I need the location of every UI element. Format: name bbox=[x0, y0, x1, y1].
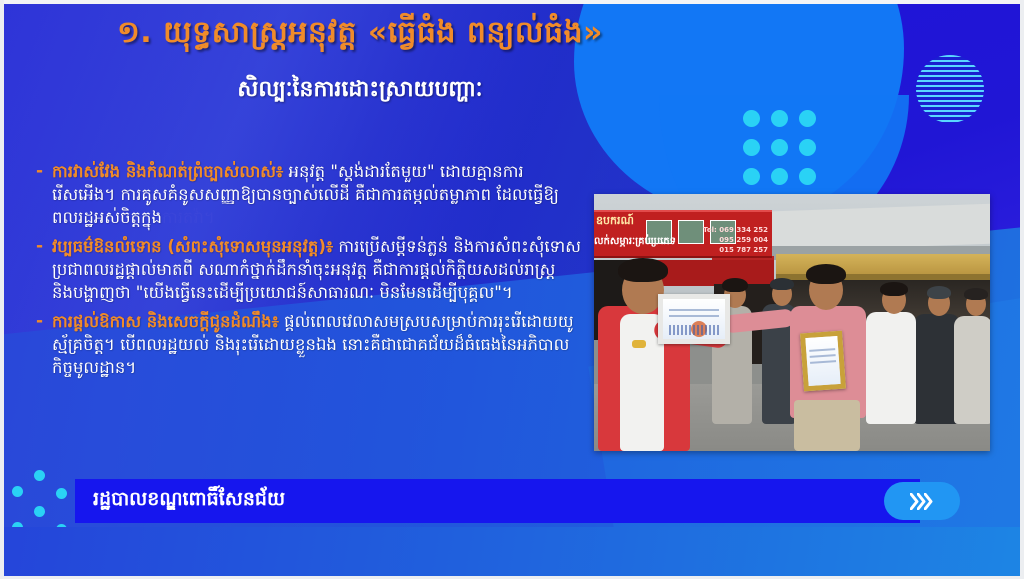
footer-label: រដ្ឋបាលខណ្ឌពោធិ៍សែនជ័យ bbox=[93, 487, 285, 515]
bullet-lead: ការវាស់វែង និងកំណត់ព្រំច្បាស់លាស់៖ bbox=[52, 162, 283, 181]
bottom-strip bbox=[0, 527, 1024, 579]
dot bbox=[743, 139, 760, 156]
photo-sign-phone: 095 259 004 bbox=[719, 236, 768, 244]
page-title: ១. យុទ្ធសាស្ត្រអនុវត្ត «ធ្វើធំង ពន្យល់ធំ… bbox=[0, 14, 720, 52]
dot bbox=[12, 486, 23, 497]
bullet-marker: - bbox=[36, 310, 52, 333]
photo-sign-secondary bbox=[654, 260, 774, 286]
photo-person-hair bbox=[964, 288, 988, 300]
footer-bar: រដ្ឋបាលខណ្ឌពោធិ៍សែនជ័យ bbox=[75, 479, 920, 523]
bullet-lead: ការផ្តល់ឱកាស និងសេចក្តីជូនដំណឹង៖ bbox=[52, 312, 279, 331]
photo-certificate-pattern bbox=[669, 325, 719, 335]
photo-sign-main-text: ឧបករណ៍ bbox=[596, 214, 634, 230]
photo-person-cap bbox=[770, 278, 794, 290]
frame-edge-right bbox=[1020, 0, 1024, 579]
bullet-body: ការវាស់វែង និងកំណត់ព្រំច្បាស់លាស់៖ អនុវត… bbox=[52, 160, 581, 229]
bullet-marker: - bbox=[36, 235, 52, 258]
dot bbox=[743, 168, 760, 185]
photo-sign-thumb bbox=[678, 220, 704, 244]
photo-person bbox=[866, 312, 916, 424]
photo-person-trousers bbox=[794, 400, 860, 451]
photo-shop-banner: ឧបករណ៍ លក់សម្ភារៈគ្រប់ប្រភេទ Tel: 069 33… bbox=[594, 210, 772, 258]
bullet-list: - ការវាស់វែង និងកំណត់ព្រំច្បាស់លាស់៖ អនុ… bbox=[36, 160, 581, 385]
slide-header: ១. យុទ្ធសាស្ត្រអនុវត្ត «ធ្វើធំង ពន្យល់ធំ… bbox=[0, 14, 720, 103]
frame-edge-left bbox=[0, 0, 4, 579]
photo-certificate-gold bbox=[800, 331, 846, 392]
chevron-right-icon bbox=[924, 493, 933, 510]
next-slide-button[interactable] bbox=[884, 482, 960, 520]
bullet-lead: វប្បធម៌ឱនលំទោន (សំពះសុំទោសមុនអនុវត្ត)៖ bbox=[52, 237, 333, 256]
slide-root: ១. យុទ្ធសាស្ត្រអនុវត្ត «ធ្វើធំង ពន្យល់ធំ… bbox=[0, 0, 1024, 579]
photo-watch bbox=[632, 340, 646, 348]
photo-person-hair bbox=[806, 264, 846, 284]
list-item: - វប្បធម៌ឱនលំទោន (សំពះសុំទោសមុនអនុវត្ត)៖… bbox=[36, 235, 581, 304]
photo-person bbox=[954, 316, 990, 424]
photo-sign-sub-text: លក់សម្ភារៈគ្រប់ប្រភេទ bbox=[594, 234, 676, 249]
dot bbox=[771, 139, 788, 156]
photo-image: ឧបករណ៍ លក់សម្ភារៈគ្រប់ប្រភេទ Tel: 069 33… bbox=[594, 194, 990, 451]
page-subtitle: សិល្បៈនៃការដោះស្រាយបញ្ហាៈ bbox=[0, 76, 720, 104]
dot bbox=[771, 110, 788, 127]
dot bbox=[799, 139, 816, 156]
striped-circle-ornament bbox=[916, 55, 984, 123]
photo-person-cap bbox=[927, 286, 951, 299]
list-item: - ការផ្តល់ឱកាស និងសេចក្តីជូនដំណឹង៖ ផ្តល់… bbox=[36, 310, 581, 379]
photo-person-hair bbox=[722, 278, 748, 292]
dot-grid-ornament bbox=[743, 110, 819, 189]
photo-person-hair bbox=[880, 282, 908, 296]
triple-chevron-right-icon bbox=[912, 493, 933, 510]
bullet-marker: - bbox=[36, 160, 52, 183]
dot bbox=[799, 168, 816, 185]
dot bbox=[34, 506, 45, 517]
list-item: - ការវាស់វែង និងកំណត់ព្រំច្បាស់លាស់៖ អនុ… bbox=[36, 160, 581, 229]
dot bbox=[799, 110, 816, 127]
bullet-tail: ការតវ៉ា។ bbox=[162, 208, 215, 227]
frame-edge-top bbox=[0, 0, 1024, 4]
photo-certificate-silver bbox=[658, 294, 730, 344]
photo-certificate-line bbox=[669, 309, 719, 311]
dot bbox=[743, 110, 760, 127]
bullet-body: ការផ្តល់ឱកាស និងសេចក្តីជូនដំណឹង៖ ផ្តល់ពេ… bbox=[52, 310, 581, 379]
bullet-body: វប្បធម៌ឱនលំទោន (សំពះសុំទោសមុនអនុវត្ត)៖ ក… bbox=[52, 235, 581, 304]
photo-sign-phone: 015 787 257 bbox=[719, 246, 768, 254]
dot bbox=[771, 168, 788, 185]
dot bbox=[34, 470, 45, 481]
photo-person-hair bbox=[618, 258, 668, 282]
dot bbox=[56, 488, 67, 499]
photo-sign-phone: Tel: 069 334 252 bbox=[703, 226, 768, 234]
photo-certificate-line bbox=[669, 315, 719, 317]
